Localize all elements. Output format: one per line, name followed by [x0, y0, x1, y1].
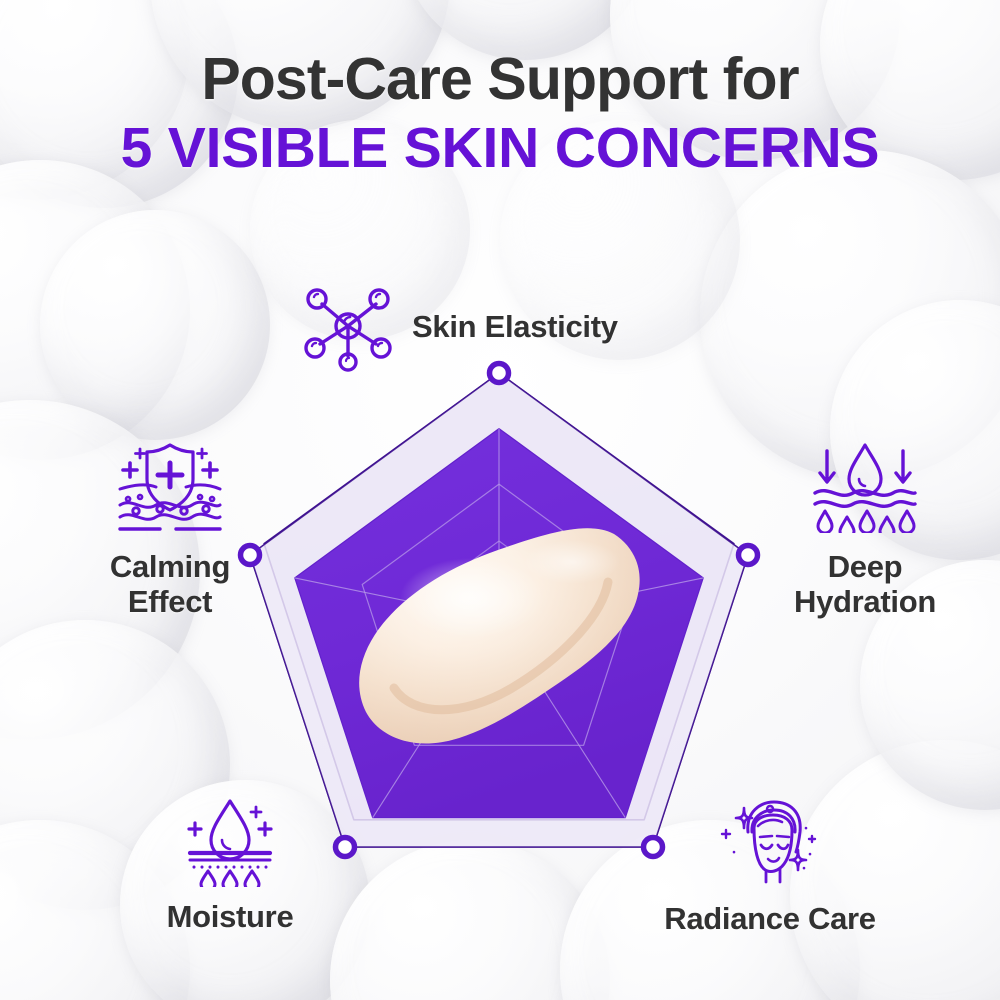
feature-label-deep-hydration: Deep Hydration — [750, 550, 980, 619]
feature-label-skin-elasticity: Skin Elasticity — [412, 310, 618, 345]
feature-deep-hydration[interactable]: Deep Hydration — [750, 440, 980, 619]
headline-block: Post-Care Support for 5 VISIBLE SKIN CON… — [0, 48, 1000, 182]
feature-label-calming-effect: Calming Effect — [60, 550, 280, 619]
feature-label-moisture: Moisture — [118, 900, 342, 935]
headline-line-1: Post-Care Support for — [0, 48, 1000, 111]
shield-skin-protect-icon — [60, 438, 280, 534]
feature-radiance-care[interactable]: Radiance Care — [620, 798, 920, 937]
feature-skin-elasticity[interactable]: Skin Elasticity — [300, 282, 618, 372]
water-drop-absorb-icon — [750, 440, 980, 534]
infographic-canvas: Post-Care Support for 5 VISIBLE SKIN CON… — [0, 0, 1000, 1000]
feature-label-radiance-care: Radiance Care — [620, 902, 920, 937]
feature-calming-effect[interactable]: Calming Effect — [60, 438, 280, 619]
headline-line-2: 5 VISIBLE SKIN CONCERNS — [0, 115, 1000, 182]
feature-moisture[interactable]: Moisture — [118, 796, 342, 935]
droplet-skin-icon — [118, 796, 342, 888]
molecule-network-icon — [300, 282, 396, 372]
glowing-face-icon — [620, 798, 920, 890]
